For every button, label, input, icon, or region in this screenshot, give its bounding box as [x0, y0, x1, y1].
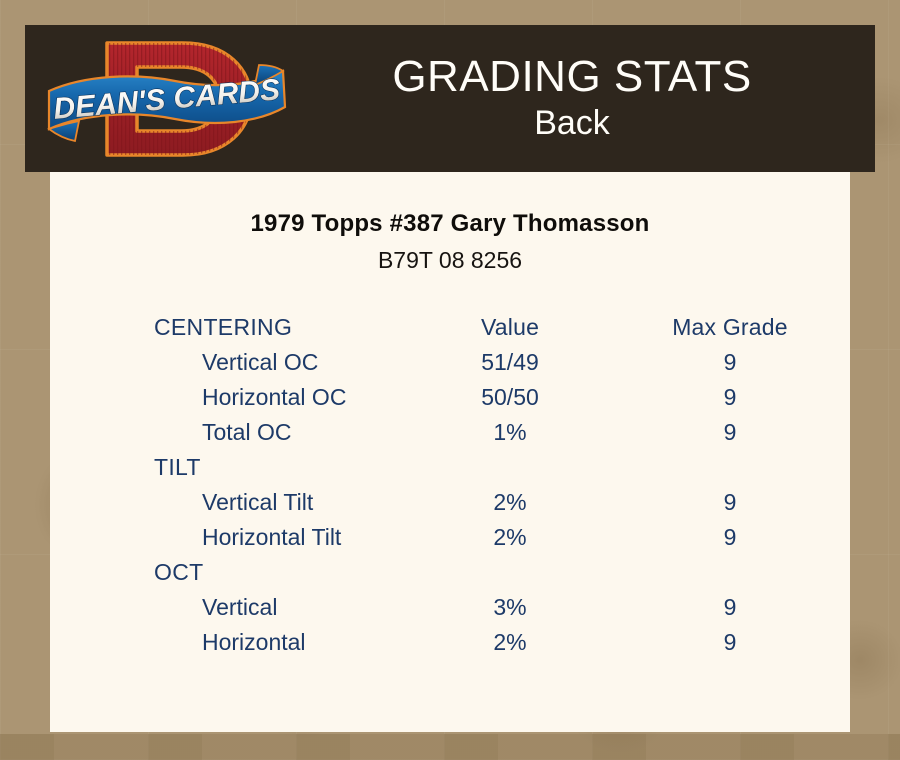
stat-max-grade: 9 [610, 415, 850, 450]
stat-value: 1% [410, 415, 610, 450]
stat-label: Horizontal OC [50, 380, 410, 415]
table-row: Horizontal OC50/509 [50, 380, 850, 415]
table-row: Horizontal2%9 [50, 625, 850, 660]
stat-value: 3% [410, 590, 610, 625]
stat-max-grade: 9 [610, 380, 850, 415]
grading-stats-table: CENTERINGValueMax GradeVertical OC51/499… [50, 310, 850, 660]
stat-value: 50/50 [410, 380, 610, 415]
stat-max-grade: 9 [610, 520, 850, 555]
column-header-max-grade [610, 450, 850, 485]
column-header-value [410, 555, 610, 590]
column-header-value: Value [410, 310, 610, 345]
page-subtitle: Back [295, 103, 849, 143]
stat-value: 51/49 [410, 345, 610, 380]
stat-label: Total OC [50, 415, 410, 450]
header-bar: DEAN'S CARDS GRADING STATS Back [25, 25, 875, 172]
section-header-row: CENTERINGValueMax Grade [50, 310, 850, 345]
logo-graphic: DEAN'S CARDS [45, 33, 295, 165]
table-row: Total OC1%9 [50, 415, 850, 450]
table-row: Vertical OC51/499 [50, 345, 850, 380]
content-panel: 1979 Topps #387 Gary Thomasson B79T 08 8… [50, 172, 850, 732]
stat-max-grade: 9 [610, 590, 850, 625]
stat-max-grade: 9 [610, 345, 850, 380]
table-row: Vertical Tilt2%9 [50, 485, 850, 520]
card-serial-number: B79T 08 8256 [50, 247, 850, 274]
stat-label: Horizontal Tilt [50, 520, 410, 555]
header-title-block: GRADING STATS Back [295, 51, 875, 147]
section-title: OCT [50, 555, 410, 590]
stat-value: 2% [410, 520, 610, 555]
table-row: Vertical3%9 [50, 590, 850, 625]
table-row: Horizontal Tilt2%9 [50, 520, 850, 555]
stat-label: Vertical Tilt [50, 485, 410, 520]
stat-value: 2% [410, 485, 610, 520]
stat-value: 2% [410, 625, 610, 660]
stat-label: Horizontal [50, 625, 410, 660]
column-header-value [410, 450, 610, 485]
section-title: CENTERING [50, 310, 410, 345]
card-title: 1979 Topps #387 Gary Thomasson [50, 210, 850, 238]
stat-max-grade: 9 [610, 625, 850, 660]
column-header-max-grade: Max Grade [610, 310, 850, 345]
stat-label: Vertical [50, 590, 410, 625]
stat-label: Vertical OC [50, 345, 410, 380]
section-header-row: TILT [50, 450, 850, 485]
page-title: GRADING STATS [295, 51, 849, 103]
section-header-row: OCT [50, 555, 850, 590]
stat-max-grade: 9 [610, 485, 850, 520]
section-title: TILT [50, 450, 410, 485]
deans-cards-logo[interactable]: DEAN'S CARDS [45, 33, 295, 165]
column-header-max-grade [610, 555, 850, 590]
